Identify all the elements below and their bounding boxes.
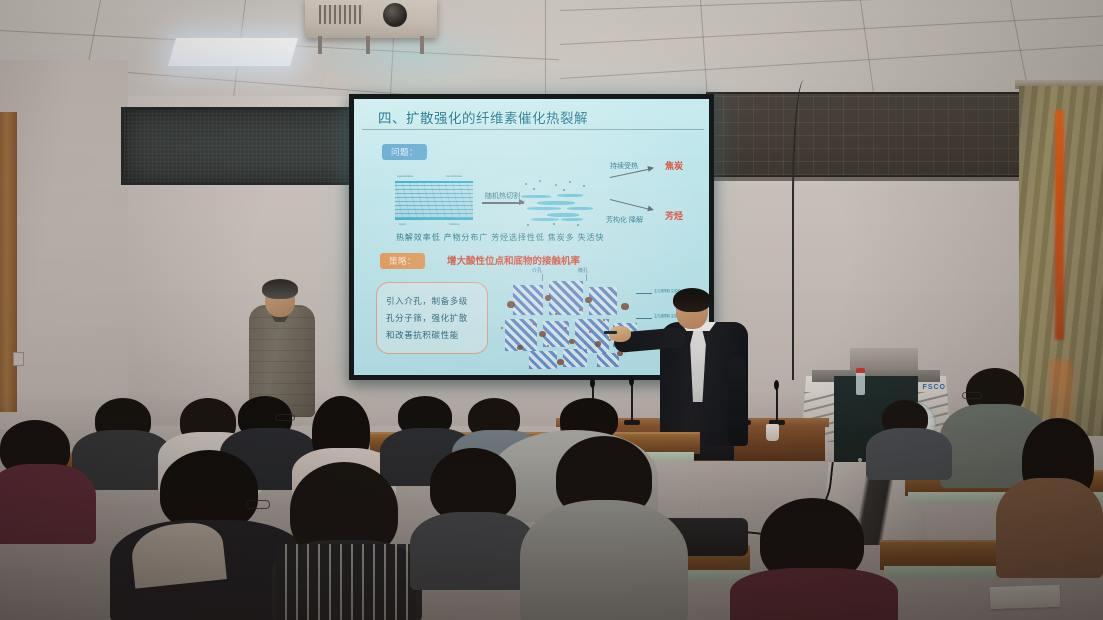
strategy-note-box: 引入介孔，制备多级 孔分子筛，强化扩散 和改善抗积碳性能 <box>376 282 488 354</box>
slide-title: 四、扩散强化的纤维素催化热裂解 <box>378 107 588 127</box>
pore-label-micro: 微孔 <box>578 267 588 274</box>
projector-mount <box>420 36 424 54</box>
process-arrow-label: 随机热切割 <box>485 191 520 201</box>
title-divider <box>362 129 704 130</box>
wall-blackboard-left <box>121 107 372 185</box>
pore-label-meso: 介孔 <box>532 267 542 274</box>
wall-outlet <box>13 352 24 366</box>
left-wall <box>0 60 128 430</box>
podium-brand-label: FSCO <box>923 384 946 391</box>
summary-line: 热解效率低 产物分布广 芳烃选择性低 焦炭多 失活快 <box>396 232 604 243</box>
microphone-head-icon <box>590 378 595 388</box>
microphone-stem <box>631 384 633 422</box>
microphone-base <box>624 420 640 425</box>
presenter-arm <box>728 356 746 444</box>
cellulose-structure-diagram <box>395 181 473 220</box>
audience-body <box>730 568 898 620</box>
sunlight-strip <box>1055 110 1064 340</box>
microphone-stem <box>776 388 778 422</box>
product-aromatics-label: 芳烃 <box>665 209 683 222</box>
product-coke-label: 焦炭 <box>665 159 683 172</box>
audience-plaid-shirt <box>276 544 416 620</box>
audience-body-hoodie <box>520 500 688 620</box>
projector-vent-icon <box>319 5 363 24</box>
projector-lens-icon <box>383 3 407 27</box>
presenter-hand <box>609 326 631 342</box>
lecture-hall-photo: 四、扩散强化的纤维素催化热裂解 问题： Lignocellulose Hemic… <box>0 0 1103 620</box>
note-line-3: 和改善抗积碳性能 <box>386 329 478 341</box>
hierarchical-pore-diagram <box>499 279 659 365</box>
note-line-1: 引入介孔，制备多级 <box>386 295 478 307</box>
audience-body <box>410 512 536 590</box>
audience-body <box>996 478 1103 578</box>
paper-sheet <box>990 585 1061 609</box>
projector-mount <box>366 36 370 54</box>
glasses-icon <box>275 414 295 421</box>
projector-mount <box>318 36 322 54</box>
strategy-text: 增大酸性位点和底物的接触机率 <box>447 253 580 267</box>
ceiling-projector <box>305 0 437 38</box>
upper-path-label: 持续受热 <box>610 161 638 171</box>
cellulose-label-hemicellulose: Hemicellulose <box>446 175 462 178</box>
glasses-icon <box>246 500 270 509</box>
lower-path-arrow-icon <box>610 199 653 211</box>
water-bottle <box>856 368 865 395</box>
laser-pointer <box>604 331 617 334</box>
standing-attendee-hair <box>262 279 298 299</box>
note-line-2: 孔分子筛，强化扩散 <box>386 312 478 324</box>
presenter-hair <box>673 288 711 312</box>
door-frame <box>0 112 17 412</box>
microphone-head-icon <box>629 376 634 386</box>
fragment-diagram <box>517 177 601 225</box>
lower-path-label: 芳构化 降解 <box>606 215 643 225</box>
microphone-head-icon <box>774 380 779 390</box>
audience-head <box>430 448 516 522</box>
wall-cable <box>792 80 822 380</box>
strategy-badge: 策略： <box>380 253 425 269</box>
cellulose-label-cellulose: Cellulose <box>449 223 460 226</box>
audience-body <box>0 464 96 544</box>
cellulose-label-lignin: Lignin <box>399 223 406 226</box>
glasses-icon <box>962 392 982 399</box>
ceiling-light-panel <box>168 38 298 66</box>
cellulose-label-lignocellulose: Lignocellulose <box>397 175 413 178</box>
audience-head <box>160 450 258 530</box>
audience-body <box>866 428 952 480</box>
problem-badge: 问题： <box>382 144 427 160</box>
paper-cup <box>766 424 779 441</box>
